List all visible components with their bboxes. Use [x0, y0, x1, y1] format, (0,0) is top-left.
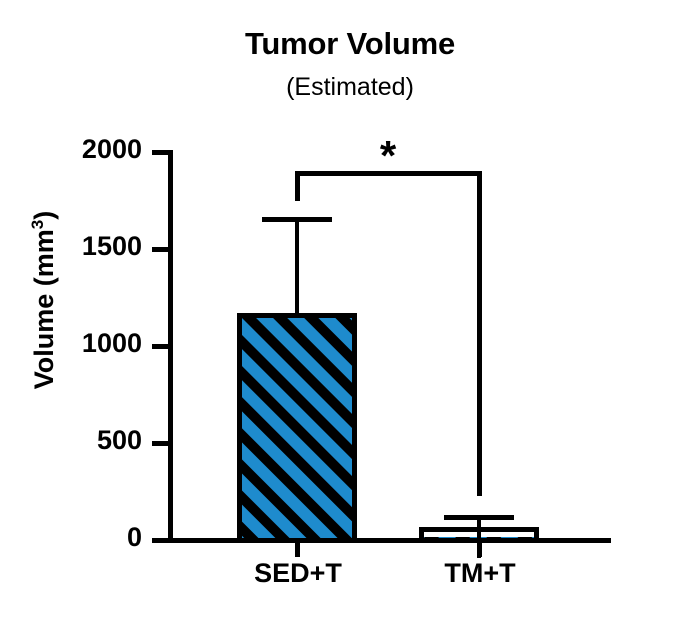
chart-title: Tumor Volume	[0, 26, 700, 62]
y-tick-2000	[152, 150, 169, 155]
y-tick-label-1500: 1500	[22, 233, 142, 260]
y-axis-label-suffix: )	[29, 211, 59, 220]
chart-subtitle: (Estimated)	[0, 73, 700, 102]
x-tick-label-sed-t: SED+T	[208, 560, 388, 587]
y-tick-label-1000: 1000	[22, 330, 142, 357]
bar-sed-t-fill	[242, 318, 352, 538]
y-tick-1500	[152, 247, 169, 252]
significance-bracket-right-leg	[477, 171, 482, 496]
significance-bracket-left-leg	[295, 171, 300, 201]
bar-sed-t-hatch	[242, 318, 352, 538]
y-tick-1000	[152, 344, 169, 349]
y-tick-label-500: 500	[22, 427, 142, 454]
y-tick-label-0: 0	[22, 524, 142, 551]
error-bar-stem-tm-t	[477, 516, 481, 558]
y-tick-500	[152, 441, 169, 446]
bar-sed-t	[237, 313, 357, 543]
x-axis-line	[168, 538, 611, 543]
error-bar-cap-tm-t	[444, 515, 514, 520]
x-tick-sed-t	[295, 541, 300, 557]
y-axis-label-exponent: 3	[28, 220, 47, 229]
x-tick-label-tm-t: TM+T	[390, 560, 570, 587]
significance-asterisk: *	[358, 135, 418, 177]
chart-figure: Tumor Volume (Estimated) Volume (mm3) 20…	[0, 0, 700, 620]
error-bar-cap-sed-t	[262, 217, 332, 222]
y-tick-label-2000: 2000	[22, 136, 142, 163]
y-tick-0	[152, 538, 169, 543]
error-bar-stem-sed-t	[295, 218, 299, 318]
